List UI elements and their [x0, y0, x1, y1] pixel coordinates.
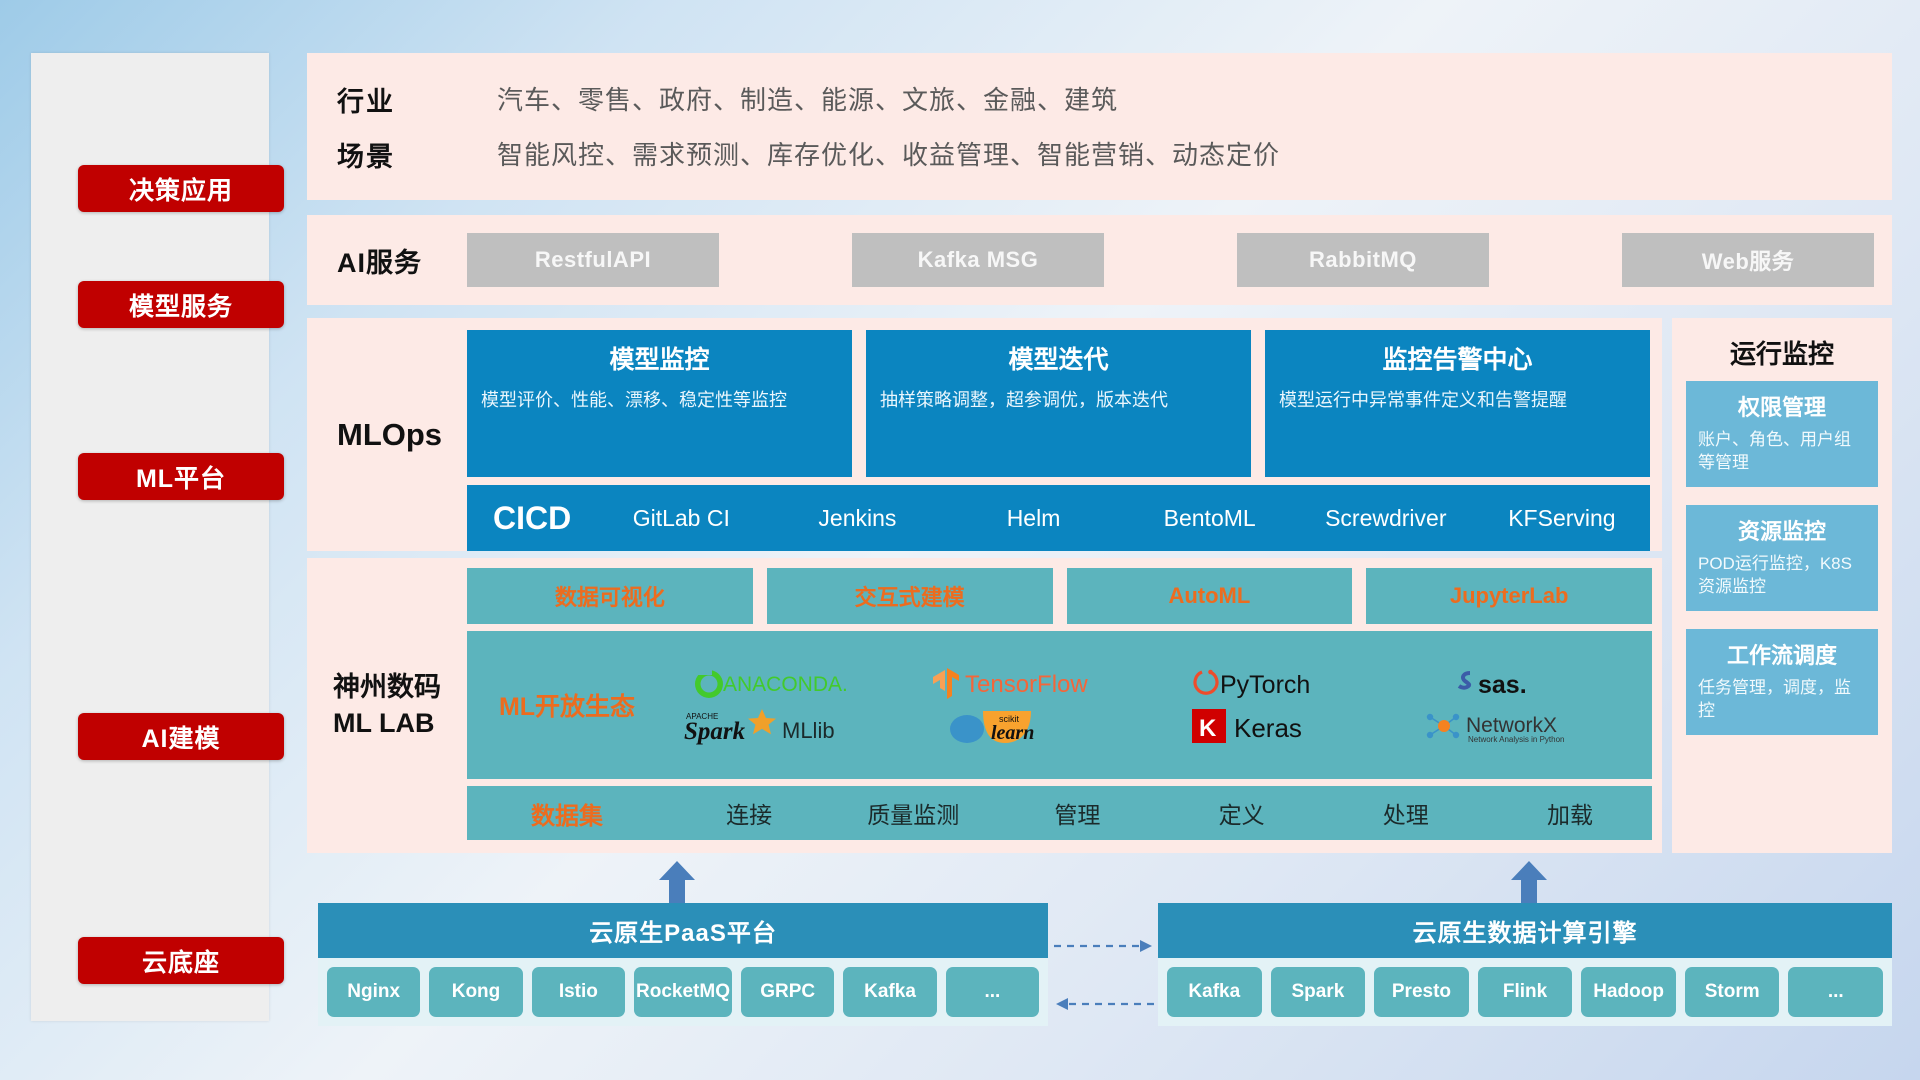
networkx-logo: NetworkX Network Analysis in Python: [1422, 705, 1622, 747]
arrow-up-engine-icon: [1507, 860, 1551, 904]
cicd-bar: CICD GitLab CI Jenkins Helm BentoML Scre…: [467, 485, 1650, 551]
engine-chip-hadoop[interactable]: Hadoop: [1581, 967, 1676, 1017]
stage-label: 模型服务: [129, 287, 233, 323]
svg-text:K: K: [1199, 715, 1217, 742]
stage-label: 云底座: [142, 943, 220, 979]
service-chip-rabbitmq[interactable]: RabbitMQ: [1237, 233, 1489, 287]
pytorch-logo: PyTorch: [1188, 664, 1368, 704]
svg-text:ANACONDA.: ANACONDA.: [723, 673, 848, 696]
stage-label: ML平台: [136, 459, 226, 495]
tensorflow-logo: TensorFlow: [931, 664, 1136, 704]
stage-rail: 决策应用 模型服务 ML平台 AI建模: [31, 53, 269, 1021]
chip-label: Kafka MSG: [918, 247, 1039, 273]
svg-text:PyTorch: PyTorch: [1220, 671, 1310, 699]
decision-app-panel: 行业 汽车、零售、政府、制造、能源、文旅、金融、建筑 场景 智能风控、需求预测、…: [307, 53, 1892, 200]
dataset-item-manage[interactable]: 管理: [995, 796, 1159, 830]
card-desc: 账户、角色、用户组等管理: [1698, 429, 1866, 475]
lab-tab-jupyterlab[interactable]: JupyterLab: [1366, 568, 1652, 624]
arrow-up-paas-icon: [655, 860, 699, 904]
card-title: 权限管理: [1698, 390, 1866, 422]
stage-model-service[interactable]: 模型服务: [78, 281, 284, 328]
run-monitor-panel: 运行监控 权限管理 账户、角色、用户组等管理 资源监控 POD运行监控，K8S资…: [1672, 318, 1892, 853]
card-title: 工作流调度: [1698, 638, 1866, 670]
keras-logo: K Keras: [1190, 705, 1365, 747]
mlops-panel: MLOps 模型监控 模型评价、性能、漂移、稳定性等监控 模型迭代 抽样策略调整…: [307, 318, 1662, 551]
stage-label: AI建模: [141, 719, 220, 755]
paas-chip-istio[interactable]: Istio: [532, 967, 625, 1017]
model-service-panel: AI服务 RestfulAPI Kafka MSG RabbitMQ Web服务: [307, 215, 1892, 305]
dataset-item-process[interactable]: 处理: [1324, 796, 1488, 830]
stage-label: 决策应用: [129, 171, 233, 207]
mlops-label: MLOps: [307, 318, 467, 551]
card-desc: 模型评价、性能、漂移、稳定性等监控: [481, 388, 838, 413]
monitor-card-resource[interactable]: 资源监控 POD运行监控，K8S资源监控: [1686, 505, 1878, 611]
stage-decision-app[interactable]: 决策应用: [78, 165, 284, 212]
svg-text:NetworkX: NetworkX: [1466, 714, 1557, 737]
engine-chip-presto[interactable]: Presto: [1374, 967, 1469, 1017]
cicd-tool-gitlab-ci[interactable]: GitLab CI: [593, 507, 769, 530]
cicd-tool-bentoml[interactable]: BentoML: [1122, 507, 1298, 530]
ml-lab-label: 神州数码 ML LAB: [307, 558, 467, 853]
industry-value: 汽车、零售、政府、制造、能源、文旅、金融、建筑: [497, 80, 1892, 119]
scenario-label: 场景: [337, 135, 497, 174]
mlops-card-alert-center[interactable]: 监控告警中心 模型运行中异常事件定义和告警提醒: [1265, 330, 1650, 477]
mlops-card-model-monitoring[interactable]: 模型监控 模型评价、性能、漂移、稳定性等监控: [467, 330, 852, 477]
cicd-tool-jenkins[interactable]: Jenkins: [769, 507, 945, 530]
stage-ai-modeling[interactable]: AI建模: [78, 713, 284, 760]
engine-chip-flink[interactable]: Flink: [1478, 967, 1573, 1017]
mlops-card-model-iteration[interactable]: 模型迭代 抽样策略调整，超参调优，版本迭代: [866, 330, 1251, 477]
ml-ecosystem-row: ML开放生态 ANACONDA.: [467, 631, 1652, 779]
card-title: 模型迭代: [880, 340, 1237, 376]
paas-engine-link-arrows-icon: [1052, 930, 1156, 1022]
chip-label: Web服务: [1702, 244, 1795, 276]
engine-chip-kafka[interactable]: Kafka: [1167, 967, 1262, 1017]
ml-lab-panel: 神州数码 ML LAB 数据可视化 交互式建模 AutoML JupyterLa…: [307, 558, 1662, 853]
industry-label: 行业: [337, 80, 497, 119]
card-title: 资源监控: [1698, 514, 1866, 546]
scenario-value: 智能风控、需求预测、库存优化、收益管理、智能营销、动态定价: [497, 135, 1892, 174]
dataset-item-connect[interactable]: 连接: [667, 796, 831, 830]
data-engine-block: 云原生数据计算引擎 Kafka Spark Presto Flink Hadoo…: [1158, 903, 1892, 1026]
paas-chip-rocketmq[interactable]: RocketMQ: [634, 967, 732, 1017]
svg-text:Network Analysis in Python: Network Analysis in Python: [1468, 735, 1565, 744]
paas-chip-grpc[interactable]: GRPC: [741, 967, 834, 1017]
svg-text:MLlib: MLlib: [782, 718, 835, 743]
engine-chip-spark[interactable]: Spark: [1271, 967, 1366, 1017]
card-desc: 抽样策略调整，超参调优，版本迭代: [880, 388, 1237, 413]
svg-text:learn: learn: [991, 722, 1034, 744]
cicd-tool-helm[interactable]: Helm: [945, 507, 1121, 530]
svg-text:Spark: Spark: [684, 718, 746, 745]
dataset-row: 数据集 连接 质量监测 管理 定义 处理 加载: [467, 786, 1652, 840]
card-desc: 模型运行中异常事件定义和告警提醒: [1279, 388, 1636, 413]
stage-cloud-base[interactable]: 云底座: [78, 937, 284, 984]
sas-logo: sas.: [1452, 664, 1592, 704]
service-chip-web-service[interactable]: Web服务: [1622, 233, 1874, 287]
dataset-item-define[interactable]: 定义: [1160, 796, 1324, 830]
paas-chip-kong[interactable]: Kong: [429, 967, 522, 1017]
monitor-card-permission[interactable]: 权限管理 账户、角色、用户组等管理: [1686, 381, 1878, 487]
cicd-tool-kfserving[interactable]: KFServing: [1474, 507, 1650, 530]
paas-platform-block: 云原生PaaS平台 Nginx Kong Istio RocketMQ GRPC…: [318, 903, 1048, 1026]
paas-chip-kafka[interactable]: Kafka: [843, 967, 936, 1017]
card-title: 模型监控: [481, 340, 838, 376]
run-monitor-title: 运行监控: [1672, 318, 1892, 381]
service-chip-kafka-msg[interactable]: Kafka MSG: [852, 233, 1104, 287]
engine-chip-storm[interactable]: Storm: [1685, 967, 1780, 1017]
card-title: 监控告警中心: [1279, 340, 1636, 376]
paas-chip-more[interactable]: ...: [946, 967, 1039, 1017]
card-desc: 任务管理，调度，监控: [1698, 677, 1866, 723]
svg-text:TensorFlow: TensorFlow: [965, 671, 1088, 698]
ml-lab-label-line1: 神州数码: [333, 670, 467, 705]
lab-tab-automl[interactable]: AutoML: [1067, 568, 1353, 624]
spark-mllib-logo: APACHE Spark MLlib: [684, 705, 894, 747]
anaconda-logo: ANACONDA.: [689, 664, 889, 704]
stage-ml-platform[interactable]: ML平台: [78, 453, 284, 500]
cicd-tool-screwdriver[interactable]: Screwdriver: [1298, 507, 1474, 530]
lab-tab-data-visualization[interactable]: 数据可视化: [467, 568, 753, 624]
lab-tab-interactive-modeling[interactable]: 交互式建模: [767, 568, 1053, 624]
svg-text:sas.: sas.: [1478, 671, 1527, 699]
ml-lab-label-line2: ML LAB: [333, 706, 467, 741]
architecture-diagram: 决策应用 模型服务 ML平台 AI建模 云底座 行业 汽车、零售、政府、制造、能…: [0, 0, 1920, 1080]
chip-label: RabbitMQ: [1309, 247, 1417, 273]
engine-title: 云原生数据计算引擎: [1158, 903, 1892, 958]
dataset-item-load[interactable]: 加载: [1488, 796, 1652, 830]
ecosystem-label: ML开放生态: [467, 687, 667, 723]
paas-title: 云原生PaaS平台: [318, 903, 1048, 958]
service-chip-restfulapi[interactable]: RestfulAPI: [467, 233, 719, 287]
scikit-learn-logo: scikit learn: [941, 705, 1126, 747]
chip-label: RestfulAPI: [535, 247, 651, 273]
engine-chip-more[interactable]: ...: [1788, 967, 1883, 1017]
svg-text:Keras: Keras: [1234, 713, 1302, 743]
card-desc: POD运行监控，K8S资源监控: [1698, 553, 1866, 599]
dataset-label: 数据集: [467, 796, 667, 831]
dataset-item-quality-monitor[interactable]: 质量监测: [831, 796, 995, 830]
cicd-title: CICD: [467, 500, 593, 537]
monitor-card-workflow[interactable]: 工作流调度 任务管理，调度，监控: [1686, 629, 1878, 735]
paas-chip-nginx[interactable]: Nginx: [327, 967, 420, 1017]
ai-service-label: AI服务: [307, 241, 467, 280]
